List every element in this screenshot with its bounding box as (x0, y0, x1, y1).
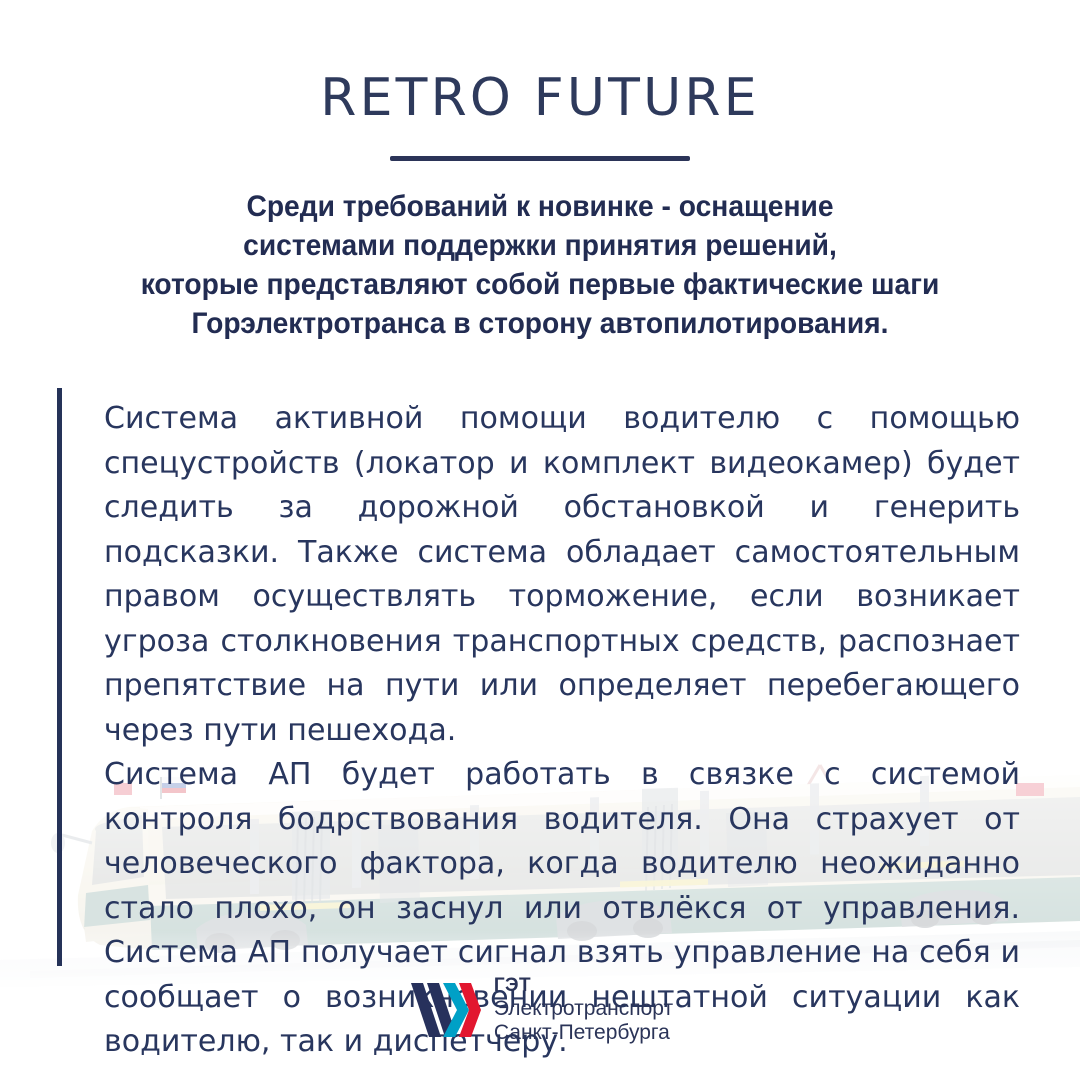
logo-line-city: Санкт-Петербурга (494, 1021, 673, 1045)
subtitle-line-4: Горэлектротранса в сторону автопилотиров… (70, 304, 1010, 343)
header: RETRO FUTURE (0, 0, 1080, 161)
slide-root: RETRO FUTURE Среди требований к новинке … (0, 0, 1080, 1080)
logo-line-org: Электротранспорт (494, 997, 673, 1021)
header-divider (390, 156, 690, 161)
body-text: Система активной помощи водителю с помощ… (104, 397, 1020, 1065)
subtitle-line-1: Среди требований к новинке - оснащение (70, 187, 1010, 226)
footer-logo: ГЭТ Электротранспорт Санкт-Петербурга (0, 975, 1080, 1046)
logo-inner: ГЭТ Электротранспорт Санкт-Петербурга (407, 975, 673, 1046)
logo-line-abbrev: ГЭТ (494, 975, 673, 997)
subtitle-line-2: системами поддержки принятия решений, (70, 226, 1010, 265)
page-title: RETRO FUTURE (0, 0, 1080, 124)
body-block: Система активной помощи водителю с помощ… (57, 388, 1040, 966)
left-accent-bar (57, 388, 62, 966)
logo-text: ГЭТ Электротранспорт Санкт-Петербурга (494, 975, 673, 1046)
body-paragraph-1: Система активной помощи водителю с помощ… (104, 397, 1020, 753)
subtitle-line-3: которые представляют собой первые фактич… (70, 265, 1010, 304)
subtitle-block: Среди требований к новинке - оснащение с… (70, 187, 1010, 343)
get-chevron-logo-icon (407, 979, 481, 1041)
